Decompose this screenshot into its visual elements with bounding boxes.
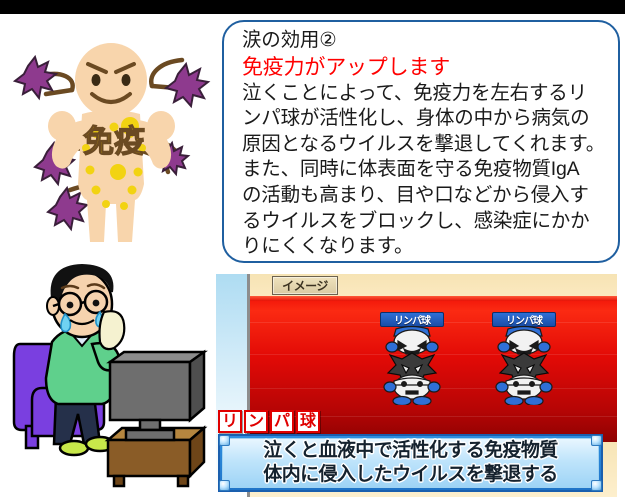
immunity-figure-graphic: 免疫: [10, 22, 215, 252]
video-panel: イメージ リンパ球: [216, 274, 617, 497]
callout-subheading: 免疫力がアップします: [242, 54, 608, 81]
crying-man-tv-graphic: [8, 258, 218, 498]
caption-stud-bottom-right: [591, 480, 602, 491]
callout-heading: 涙の効用②: [242, 28, 608, 54]
immunity-body-label: 免疫: [83, 124, 145, 159]
caption-line-2: 体内に侵入したウイルスを撃退する: [263, 463, 557, 487]
illustration-immunity: 免疫: [10, 22, 215, 252]
caption-stud-top-left: [219, 435, 230, 446]
caption-line-1: 泣くと血液中で活性化する免疫物質: [263, 439, 557, 463]
lymphocyte-mascot-graphic-1: [376, 325, 448, 405]
callout-body-line-5: の活動も高まり、目や口などから侵入す: [242, 183, 608, 209]
callout-body-line-4: また、同時に体表面を守る免疫物質IgA: [242, 157, 608, 183]
title-chip-3: パ: [270, 410, 294, 433]
video-caption-plate: 泣くと血液中で活性化する免疫物質 体内に侵入したウイルスを撃退する: [218, 434, 603, 492]
top-black-band: [0, 0, 625, 14]
callout-body-line-2: ンパ球が活性化し、身体の中から病気の: [242, 106, 608, 132]
title-chip-2: ン: [244, 410, 268, 433]
mascot-group-1: リンパ球: [376, 312, 448, 406]
image-tab-label: イメージ: [272, 276, 338, 295]
title-chip-row: リ ン パ 球: [218, 410, 320, 433]
text-callout-box: 涙の効用② 免疫力がアップします 泣くことによって、免疫力を左右するリ ンパ球が…: [222, 20, 620, 263]
mascot-group-2: リンパ球: [488, 312, 560, 406]
illustration-crying-man: [8, 258, 218, 498]
lymphocyte-mascot-graphic-2: [488, 325, 560, 405]
title-chip-1: リ: [218, 410, 242, 433]
callout-body-line-3: 原因となるウイルスを撃退してくれます。: [242, 132, 608, 158]
screenshot-root: 免疫: [0, 0, 625, 500]
callout-body-line-6: るウイルスをブロックし、感染症にかか: [242, 209, 608, 235]
callout-body-line-1: 泣くことによって、免疫力を左右するリ: [242, 81, 608, 107]
caption-stud-top-right: [591, 435, 602, 446]
callout-body-line-7: りにくくなります。: [242, 234, 608, 260]
title-chip-4: 球: [296, 410, 320, 433]
caption-stud-bottom-left: [219, 480, 230, 491]
